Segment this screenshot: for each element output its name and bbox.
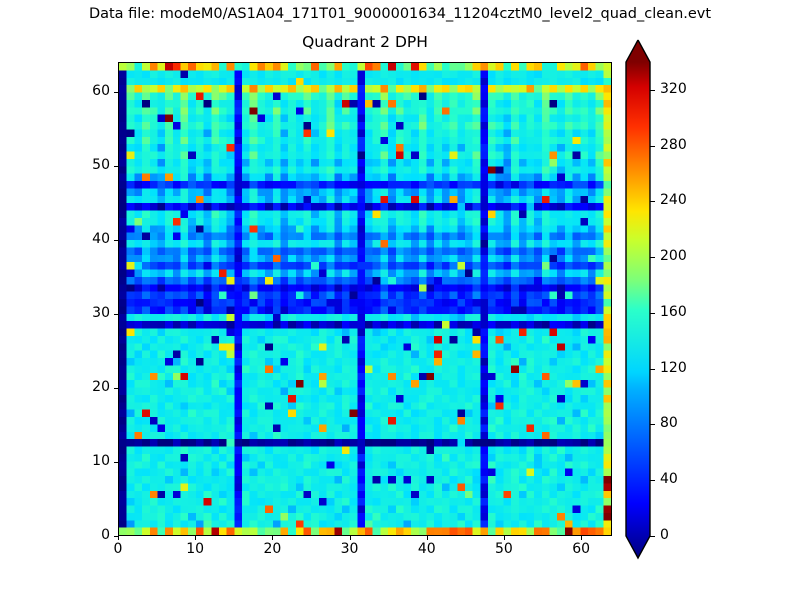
y-tick-label: 10 bbox=[58, 453, 110, 469]
colorbar-tick-mark bbox=[650, 313, 655, 314]
figure-suptitle: Data file: modeM0/AS1A04_171T01_90000016… bbox=[0, 6, 800, 22]
x-tick-label: 40 bbox=[397, 541, 457, 557]
heatmap-image[interactable] bbox=[119, 63, 611, 535]
colorbar-tick-mark bbox=[650, 201, 655, 202]
x-tick-label: 10 bbox=[165, 541, 225, 557]
x-tick-label: 60 bbox=[551, 541, 611, 557]
y-tick-mark bbox=[114, 536, 118, 537]
colorbar-tick-mark bbox=[650, 146, 655, 147]
colorbar-tick-mark bbox=[650, 257, 655, 258]
colorbar-tick-mark bbox=[650, 480, 655, 481]
y-tick-mark bbox=[114, 314, 118, 315]
y-tick-mark bbox=[114, 92, 118, 93]
y-tick-label: 20 bbox=[58, 379, 110, 395]
colorbar-tick-label: 120 bbox=[660, 360, 687, 376]
matplotlib-figure: Data file: modeM0/AS1A04_171T01_90000016… bbox=[0, 0, 800, 600]
x-tick-mark bbox=[581, 536, 582, 540]
x-tick-label: 0 bbox=[88, 541, 148, 557]
axes-title: Quadrant 2 DPH bbox=[118, 33, 612, 51]
x-tick-label: 50 bbox=[474, 541, 534, 557]
colorbar-tick-mark bbox=[650, 536, 655, 537]
colorbar-tick-mark bbox=[650, 369, 655, 370]
y-tick-mark bbox=[114, 166, 118, 167]
x-tick-mark bbox=[272, 536, 273, 540]
y-tick-label: 50 bbox=[58, 157, 110, 173]
x-tick-mark bbox=[118, 536, 119, 540]
colorbar-tick-label: 320 bbox=[660, 81, 687, 97]
y-tick-mark bbox=[114, 462, 118, 463]
y-tick-label: 60 bbox=[58, 83, 110, 99]
colorbar-tick-label: 0 bbox=[660, 527, 669, 543]
colorbar-tick-label: 240 bbox=[660, 192, 687, 208]
x-tick-mark bbox=[195, 536, 196, 540]
x-tick-label: 30 bbox=[320, 541, 380, 557]
heatmap-axes[interactable] bbox=[118, 62, 612, 536]
y-tick-label: 30 bbox=[58, 305, 110, 321]
colorbar-tick-mark bbox=[650, 90, 655, 91]
colorbar-tick-label: 200 bbox=[660, 248, 687, 264]
y-tick-label: 40 bbox=[58, 231, 110, 247]
x-tick-label: 20 bbox=[242, 541, 302, 557]
x-tick-mark bbox=[350, 536, 351, 540]
colorbar-gradient bbox=[625, 39, 651, 559]
colorbar[interactable]: 04080120160200240280320 bbox=[626, 62, 650, 536]
colorbar-tick-label: 160 bbox=[660, 304, 687, 320]
y-tick-label: 0 bbox=[58, 527, 110, 543]
x-tick-mark bbox=[504, 536, 505, 540]
colorbar-tick-label: 280 bbox=[660, 137, 687, 153]
x-tick-mark bbox=[427, 536, 428, 540]
colorbar-tick-label: 80 bbox=[660, 415, 678, 431]
y-tick-mark bbox=[114, 388, 118, 389]
colorbar-tick-label: 40 bbox=[660, 471, 678, 487]
colorbar-tick-mark bbox=[650, 424, 655, 425]
y-tick-mark bbox=[114, 240, 118, 241]
